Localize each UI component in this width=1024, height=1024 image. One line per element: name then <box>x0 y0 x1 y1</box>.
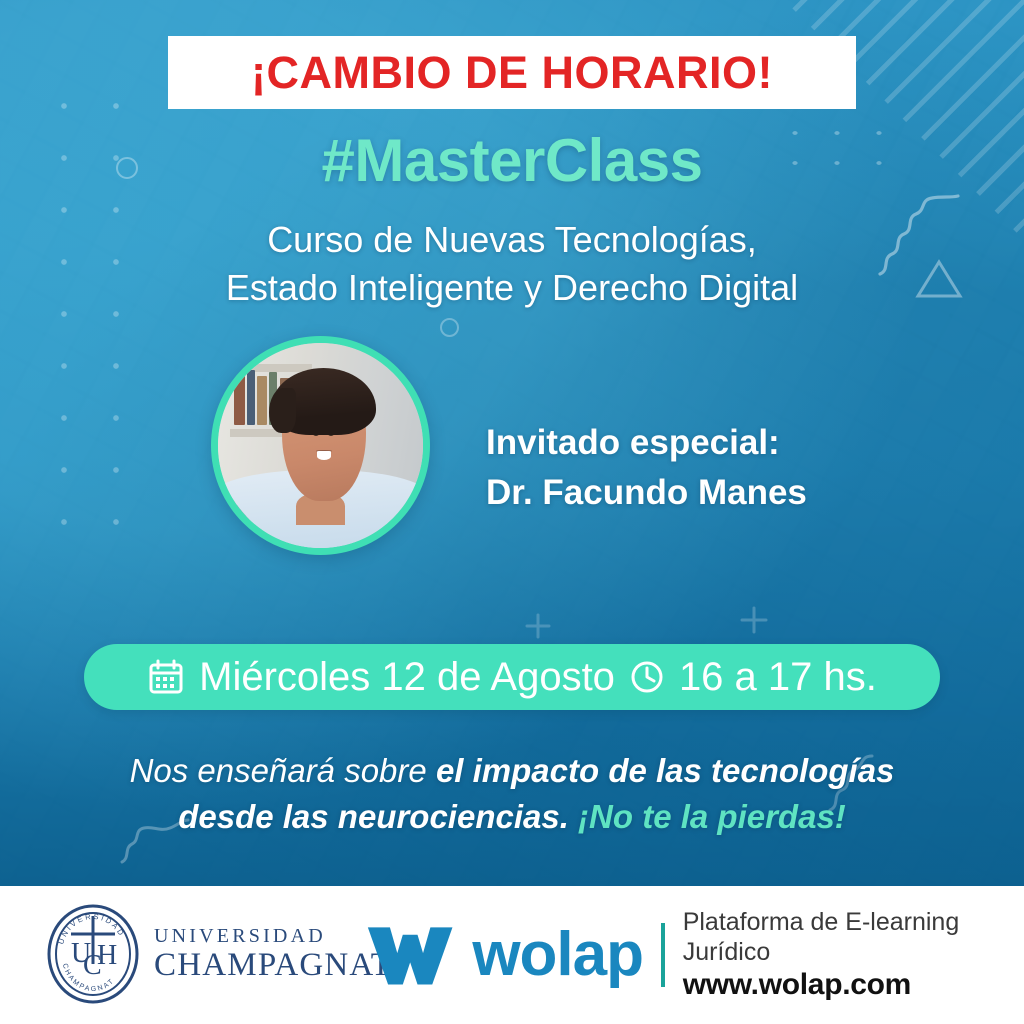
brand-logo: wolap Plataforma de E-learning Jurídico … <box>366 908 1024 1002</box>
banner-text: ¡CAMBIO DE HORARIO! <box>251 47 773 99</box>
speaker-label: Invitado especial: <box>486 418 946 468</box>
tagline-part-2: el impacto de las tecnologías <box>436 752 894 789</box>
tagline-part-3: desde las neurociencias. <box>178 798 569 835</box>
university-name: UNIVERSIDAD CHAMPAGNAT <box>154 926 392 982</box>
schedule-pill: Miércoles 12 de Agosto 16 a 17 hs. <box>84 644 940 710</box>
tagline-line-1: Nos enseñará sobre el impacto de las tec… <box>0 748 1024 794</box>
tagline: Nos enseñará sobre el impacto de las tec… <box>0 748 1024 840</box>
calendar-icon <box>147 658 185 696</box>
tagline-part-1: Nos enseñará sobre <box>130 752 436 789</box>
svg-text:H: H <box>97 940 117 971</box>
page-title-hashtag: #MasterClass <box>0 126 1024 195</box>
brand-name: wolap <box>472 924 643 986</box>
subtitle-line-1: Curso de Nuevas Tecnologías, <box>0 216 1024 264</box>
speaker-photo <box>218 343 423 548</box>
course-subtitle: Curso de Nuevas Tecnologías, Estado Inte… <box>0 216 1024 312</box>
tagline-part-4: ¡No te la pierdas! <box>569 798 846 835</box>
schedule-time: 16 a 17 hs. <box>679 655 877 700</box>
speaker-avatar <box>211 336 430 555</box>
brand-details: Plataforma de E-learning Jurídico www.wo… <box>683 908 1024 1002</box>
promo-poster: ¡CAMBIO DE HORARIO! #MasterClass Curso d… <box>0 0 1024 1024</box>
speaker-name: Dr. Facundo Manes <box>486 468 946 518</box>
brand-tagline: Plataforma de E-learning Jurídico <box>683 908 1024 967</box>
champagnat-seal-icon: U C H UNIVERSIDAD CHAMPAGNAT <box>46 904 140 1004</box>
divider <box>661 923 665 987</box>
subtitle-line-2: Estado Inteligente y Derecho Digital <box>0 264 1024 312</box>
hero-section: ¡CAMBIO DE HORARIO! #MasterClass Curso d… <box>0 0 1024 886</box>
university-logo: U C H UNIVERSIDAD CHAMPAGNAT UNIVERSIDAD… <box>46 904 392 1004</box>
schedule-change-banner: ¡CAMBIO DE HORARIO! <box>168 36 856 109</box>
wolap-w-icon <box>366 919 454 991</box>
brand-url: www.wolap.com <box>683 967 1024 1002</box>
speaker-info: Invitado especial: Dr. Facundo Manes <box>486 418 946 518</box>
clock-icon <box>629 659 665 695</box>
university-name-line-1: UNIVERSIDAD <box>154 926 392 946</box>
schedule-date: Miércoles 12 de Agosto <box>199 655 615 700</box>
university-name-line-2: CHAMPAGNAT <box>154 949 392 982</box>
tagline-line-2: desde las neurociencias. ¡No te la pierd… <box>0 794 1024 840</box>
footer-bar: U C H UNIVERSIDAD CHAMPAGNAT UNIVERSIDAD… <box>0 886 1024 1024</box>
